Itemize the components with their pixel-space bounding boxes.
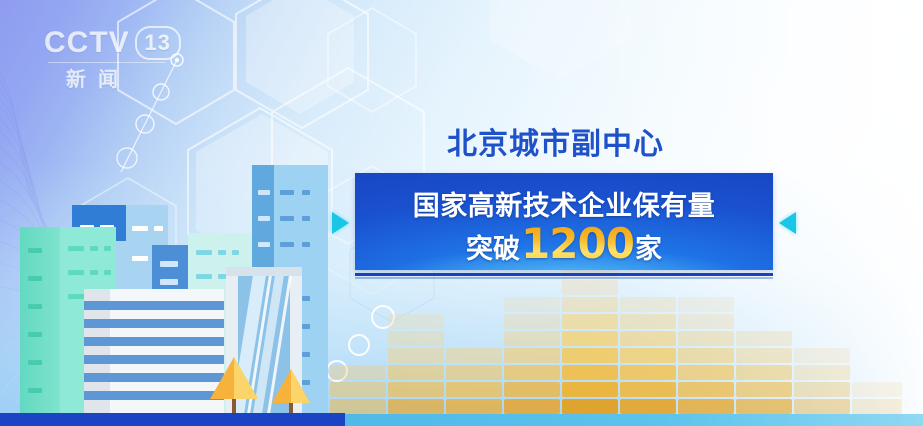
tree-leaf-highlight: [234, 357, 258, 399]
window: [302, 190, 310, 195]
window: [132, 226, 148, 231]
coin: [562, 382, 618, 397]
coin: [678, 382, 734, 397]
coin: [562, 365, 618, 380]
window: [90, 246, 98, 251]
watermark-block-b: [898, 11, 906, 17]
coin: [562, 280, 618, 295]
coin: [736, 348, 792, 363]
coin: [504, 331, 560, 346]
window: [302, 216, 310, 221]
logo-subtitle: 新闻: [66, 63, 184, 92]
coin: [562, 399, 618, 414]
banner-line2-prefix: 突破: [466, 227, 520, 266]
window: [104, 246, 111, 251]
logo-channel-number: 13: [135, 26, 181, 60]
coin: [388, 331, 444, 346]
triangle-right-icon: [332, 212, 349, 234]
coin: [562, 331, 618, 346]
coin: [388, 399, 444, 414]
window: [28, 388, 42, 393]
watermark-block-a: [887, 11, 896, 18]
stripe-row: [84, 319, 224, 328]
window: [258, 190, 270, 195]
window: [28, 360, 42, 365]
coin: [446, 365, 502, 380]
coin: [794, 365, 850, 380]
building-teal: [20, 227, 60, 413]
window: [258, 242, 270, 247]
coin: [620, 348, 676, 363]
coin: [330, 365, 386, 380]
banner-line2-suffix: 家: [635, 227, 662, 266]
banner-background: 国家高新技术企业保有量 突破1200家: [355, 173, 773, 270]
window: [302, 324, 310, 329]
coin: [330, 399, 386, 414]
tree-large: [210, 357, 258, 413]
coin: [562, 314, 618, 329]
city-skyline-illustration: [0, 113, 350, 413]
window: [302, 352, 310, 357]
coin: [620, 314, 676, 329]
window: [280, 216, 294, 221]
window: [90, 270, 98, 275]
logo-divider: [48, 62, 166, 63]
page-title: 北京城市副中心: [447, 119, 664, 163]
window: [132, 256, 148, 261]
window: [302, 296, 310, 301]
coin: [678, 348, 734, 363]
coin: [794, 399, 850, 414]
logo-main-row: CCTV 13: [44, 26, 184, 60]
stripe-row: [84, 301, 224, 310]
window: [28, 248, 42, 253]
coin: [736, 382, 792, 397]
coin: [388, 365, 444, 380]
coin: [620, 297, 676, 312]
window: [68, 270, 84, 275]
banner-underline-primary: [355, 273, 773, 276]
coin: [446, 399, 502, 414]
headline-banner: 国家高新技术企业保有量 突破1200家: [355, 173, 773, 270]
window: [68, 246, 84, 251]
tree-leaf-highlight: [291, 369, 310, 403]
window: [218, 250, 226, 255]
ground-strip-left: [0, 413, 345, 426]
window: [28, 304, 42, 309]
coin: [794, 382, 850, 397]
ground-strip-right: [345, 414, 923, 426]
coin: [852, 382, 902, 397]
coin: [388, 314, 444, 329]
coin: [388, 348, 444, 363]
banner-underline-secondary: [355, 277, 773, 279]
banner-highlight-number: 1200: [521, 225, 634, 263]
triangle-left-icon: [779, 212, 796, 234]
coin: [620, 365, 676, 380]
coin: [446, 382, 502, 397]
coin: [388, 382, 444, 397]
broadcast-watermark-icon: [883, 7, 911, 31]
coin: [678, 297, 734, 312]
stripe-row: [84, 391, 224, 400]
coin: [504, 399, 560, 414]
coin: [504, 382, 560, 397]
window: [28, 332, 42, 337]
coin: [504, 348, 560, 363]
coin: [562, 297, 618, 312]
coin: [678, 314, 734, 329]
coin: [794, 348, 850, 363]
coin: [620, 399, 676, 414]
coin: [562, 348, 618, 363]
coin: [620, 382, 676, 397]
tree-small: [272, 369, 310, 413]
coin: [736, 331, 792, 346]
coin: [504, 314, 560, 329]
window: [280, 190, 294, 195]
coin: [852, 399, 902, 414]
coin: [330, 382, 386, 397]
tree-trunk: [232, 397, 236, 413]
cctv-channel-logo: CCTV 13 新闻: [44, 26, 184, 94]
window: [68, 294, 84, 299]
news-lower-third-graphic: CCTV 13 新闻: [0, 0, 923, 426]
window: [218, 274, 226, 279]
window: [232, 250, 239, 255]
coin: [678, 365, 734, 380]
window: [160, 279, 178, 285]
window: [196, 250, 212, 255]
stripe-row: [84, 373, 224, 382]
window: [104, 270, 111, 275]
window: [154, 226, 163, 231]
glass-frame-top: [226, 267, 302, 276]
coin: [446, 348, 502, 363]
coin: [504, 365, 560, 380]
stripe-row: [84, 355, 224, 364]
watermark-block-c: [898, 19, 906, 26]
banner-line-2: 突破1200家: [355, 225, 773, 266]
coin: [736, 399, 792, 414]
coin: [678, 331, 734, 346]
window: [160, 261, 178, 267]
coin: [678, 399, 734, 414]
window: [196, 274, 212, 279]
stripe-row: [84, 337, 224, 346]
window: [258, 216, 270, 221]
coin: [504, 297, 560, 312]
banner-line-1: 国家高新技术企业保有量: [355, 173, 773, 223]
building-striped-block: [84, 289, 224, 413]
window: [302, 242, 310, 247]
window: [28, 276, 42, 281]
window: [280, 242, 294, 247]
logo-cctv-text: CCTV: [44, 26, 130, 60]
coin: [620, 331, 676, 346]
coin: [736, 365, 792, 380]
